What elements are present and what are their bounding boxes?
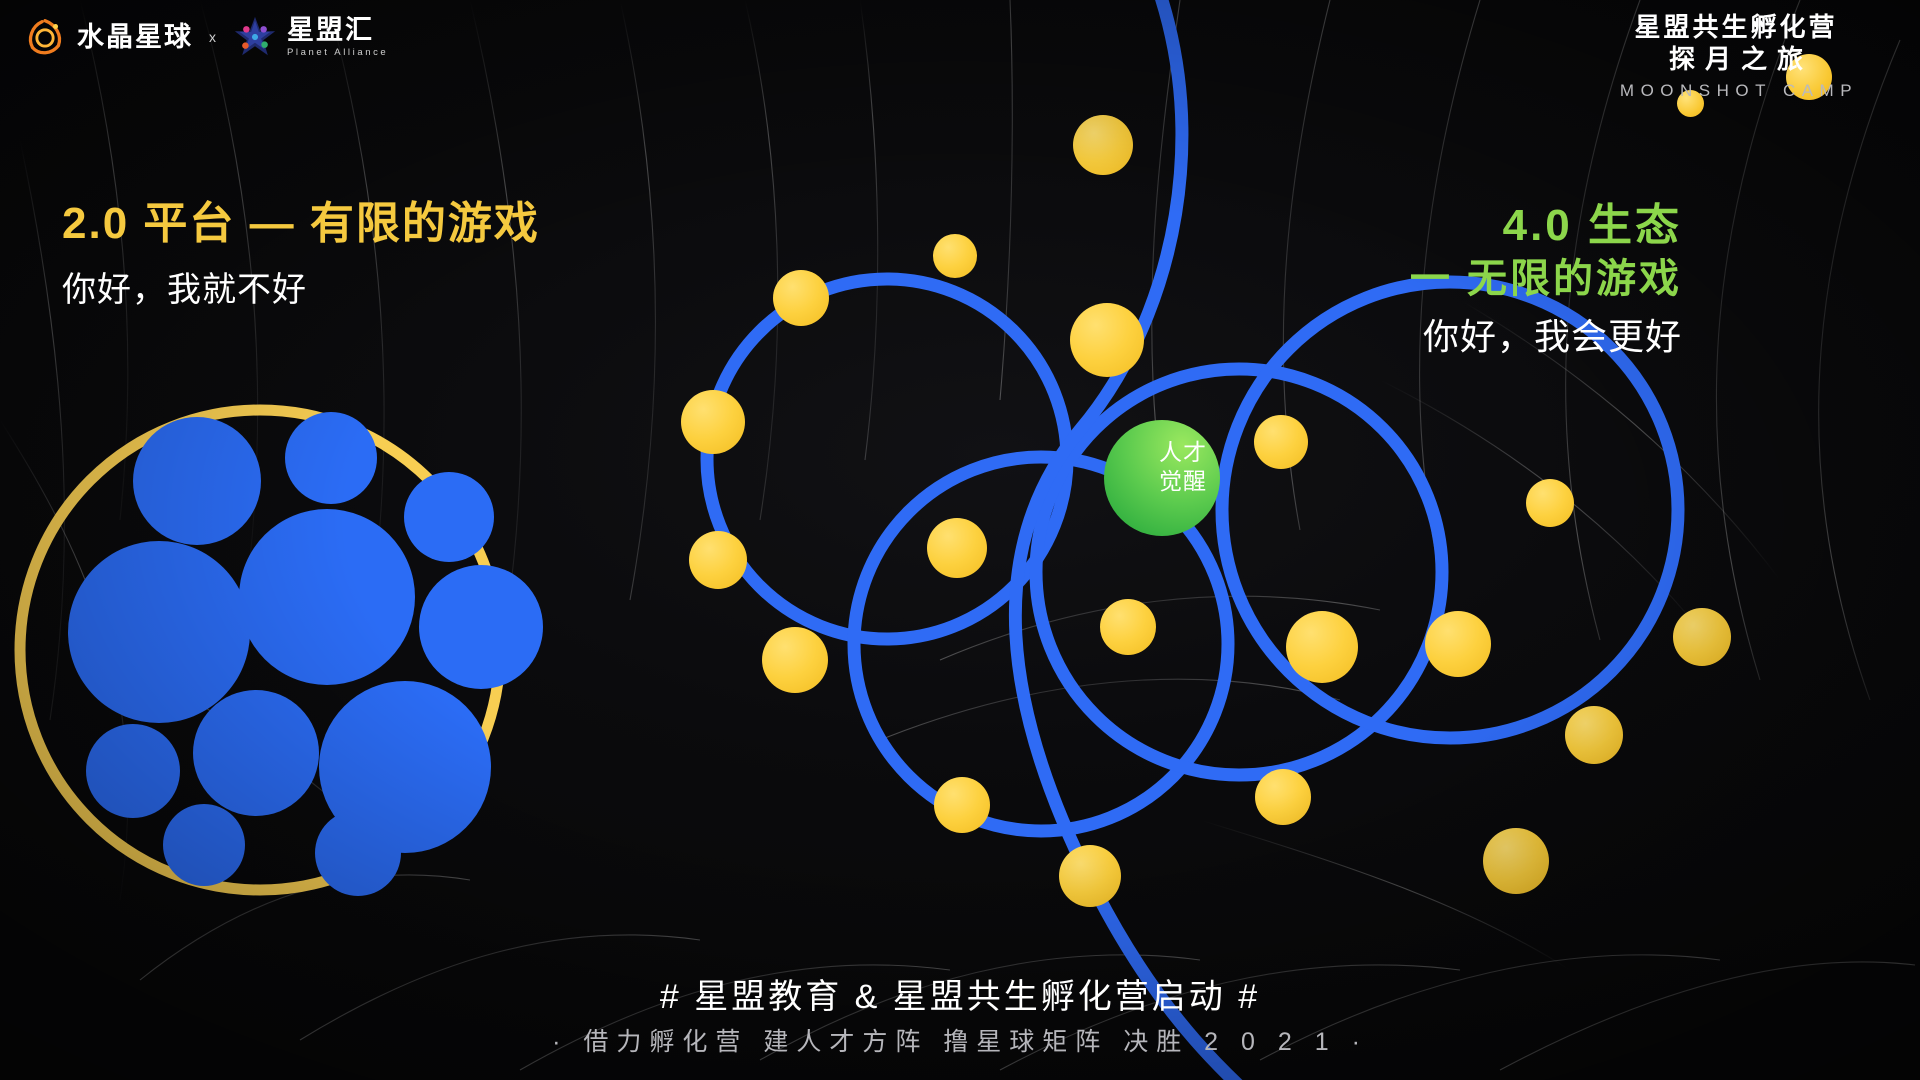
infinite-game-heading-block: 4.0 生态 一 无限的游戏 你好，我会更好	[1410, 198, 1682, 359]
camp-title-en: MOONSHOT CAMP	[1586, 81, 1886, 101]
infinite-game-headline2: 一 无限的游戏	[1410, 254, 1682, 305]
infinite-game-network	[681, 0, 1731, 1080]
finite-game-cluster	[20, 410, 543, 896]
infinite-game-subline: 你好，我会更好	[1410, 314, 1682, 359]
crystal-planet-icon	[22, 14, 68, 60]
star-alliance-logo[interactable]: 星盟汇 Planet Alliance	[232, 14, 388, 60]
presentation-slide: 人才 觉醒 水晶星球 x	[0, 0, 1920, 1080]
star-alliance-icon	[232, 14, 278, 60]
star-alliance-subname: Planet Alliance	[287, 48, 388, 58]
finite-game-heading-block: 2.0 平台 — 有限的游戏 你好，我就不好	[62, 198, 540, 311]
slide-diagram	[0, 0, 1920, 1080]
star-alliance-name: 星盟汇	[287, 17, 388, 44]
network-rings	[707, 0, 1678, 1080]
camp-branding: 星盟共生孵化营 探月之旅 MOONSHOT CAMP	[1586, 12, 1886, 101]
star-alliance-text: 星盟汇 Planet Alliance	[287, 17, 388, 58]
brand-logo-bar: 水晶星球 x 星盟汇 Planet Alliance	[22, 14, 388, 60]
brand-separator: x	[209, 29, 216, 45]
crystal-planet-name: 水晶星球	[77, 24, 193, 51]
finite-game-headline: 2.0 平台 — 有限的游戏	[62, 198, 540, 251]
infinite-game-headline: 4.0 生态	[1410, 198, 1682, 254]
finite-game-subline: 你好，我就不好	[62, 269, 540, 312]
crystal-planet-logo[interactable]: 水晶星球	[22, 14, 193, 60]
cluster-bubbles	[68, 412, 543, 896]
talent-awakening-hub[interactable]	[1104, 420, 1220, 536]
footer-caption: # 星盟教育 & 星盟共生孵化营启动 #	[0, 969, 1920, 1018]
camp-title-line1: 星盟共生孵化营	[1586, 12, 1886, 43]
camp-title-line2: 探月之旅	[1586, 43, 1886, 76]
footer-subcaption: · 借力孵化营 建人才方阵 撸星球矩阵 决胜 2 0 2 1 ·	[0, 1022, 1920, 1058]
